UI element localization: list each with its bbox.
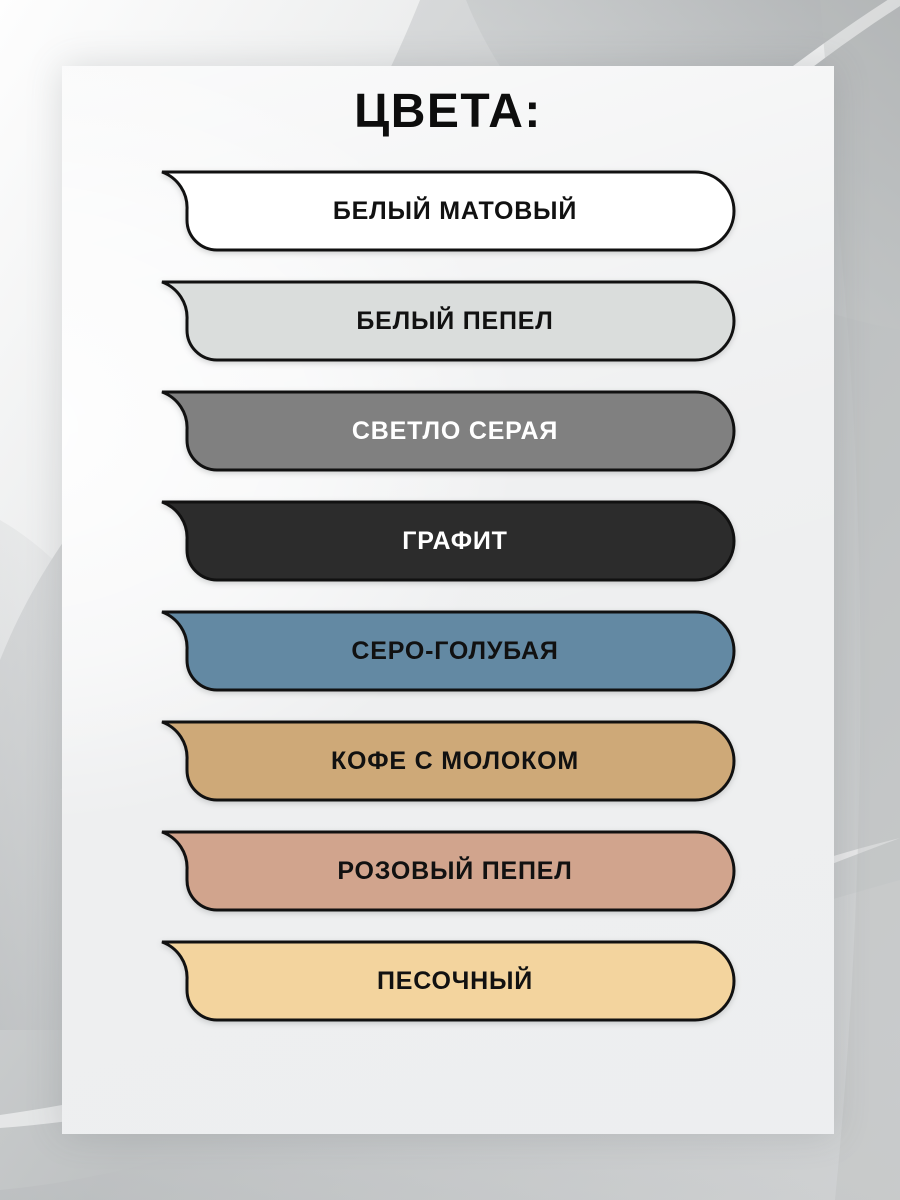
swatch-shape [160,500,736,582]
color-swatch-item[interactable]: СЕРО-ГОЛУБАЯ [160,610,736,692]
color-swatch-item[interactable]: КОФЕ С МОЛОКОМ [160,720,736,802]
card-content: ЦВЕТА: БЕЛЫЙ МАТОВЫЙ БЕЛЫЙ ПЕПЕЛ [62,66,834,1134]
color-swatch-item[interactable]: ПЕСОЧНЫЙ [160,940,736,1022]
swatch-shape [160,610,736,692]
color-swatch-item[interactable]: ГРАФИТ [160,500,736,582]
swatch-shape [160,280,736,362]
swatch-fill-path [162,832,734,910]
poster-canvas: ЦВЕТА: БЕЛЫЙ МАТОВЫЙ БЕЛЫЙ ПЕПЕЛ [0,0,900,1200]
swatch-shape [160,830,736,912]
swatch-fill-path [162,392,734,470]
swatch-fill-path [162,722,734,800]
swatch-fill-path [162,612,734,690]
swatch-shape [160,390,736,472]
poster-card: ЦВЕТА: БЕЛЫЙ МАТОВЫЙ БЕЛЫЙ ПЕПЕЛ [62,66,834,1134]
swatch-shape [160,170,736,252]
swatch-fill-path [162,502,734,580]
color-swatch-item[interactable]: БЕЛЫЙ ПЕПЕЛ [160,280,736,362]
swatch-shape [160,720,736,802]
swatch-fill-path [162,282,734,360]
swatch-shape [160,940,736,1022]
color-swatch-item[interactable]: РОЗОВЫЙ ПЕПЕЛ [160,830,736,912]
swatch-fill-path [162,172,734,250]
color-swatch-item[interactable]: БЕЛЫЙ МАТОВЫЙ [160,170,736,252]
color-swatch-item[interactable]: СВЕТЛО СЕРАЯ [160,390,736,472]
page-title: ЦВЕТА: [62,88,834,136]
color-swatch-list: БЕЛЫЙ МАТОВЫЙ БЕЛЫЙ ПЕПЕЛ СВЕТЛО СЕРАЯ [62,170,834,1022]
swatch-fill-path [162,942,734,1020]
